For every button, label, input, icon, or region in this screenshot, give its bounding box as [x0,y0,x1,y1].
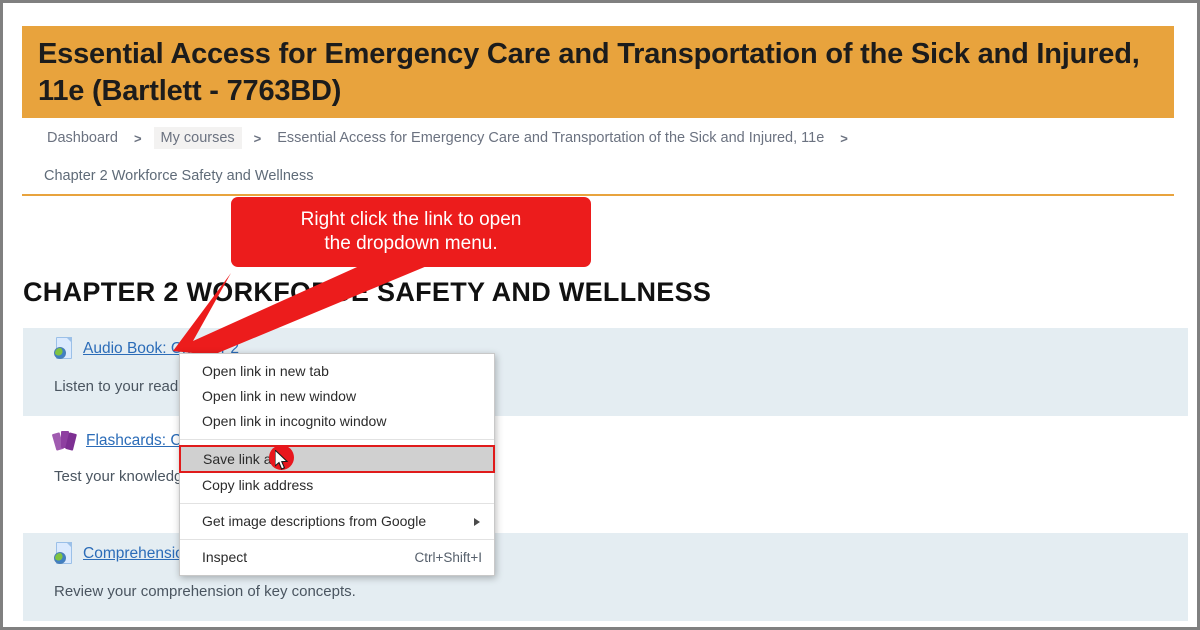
menu-item-open-link-new-window[interactable]: Open link in new window [180,384,494,409]
breadcrumb-item-my-courses[interactable]: My courses [154,127,242,149]
mouse-cursor-icon [275,450,291,472]
instruction-callout-text: Right click the link to open the dropdow… [301,208,522,256]
menu-item-label: Get image descriptions from Google [202,509,426,534]
header-divider [22,194,1174,196]
menu-item-label: Open link in new tab [202,359,329,384]
menu-item-label: Copy link address [202,473,313,498]
menu-separator [180,503,494,504]
breadcrumb-separator: > [242,131,274,146]
menu-item-inspect[interactable]: Inspect Ctrl+Shift+I [180,545,494,570]
breadcrumb-separator: > [122,131,154,146]
menu-separator [180,439,494,440]
callout-line-2: the dropdown menu. [324,233,497,254]
moodle-course-page: Essential Access for Emergency Care and … [3,3,1197,627]
screenshot-frame: Essential Access for Emergency Care and … [0,0,1200,630]
menu-item-label: Open link in incognito window [202,409,386,434]
callout-line-1: Right click the link to open [301,209,522,230]
menu-separator [180,539,494,540]
breadcrumb-item-course[interactable]: Essential Access for Emergency Care and … [273,128,828,148]
course-title: Essential Access for Emergency Care and … [38,36,1158,110]
menu-item-open-link-new-tab[interactable]: Open link in new tab [180,359,494,384]
menu-item-label: Inspect [202,545,247,570]
menu-item-save-link-as[interactable]: Save link as... [179,445,495,473]
browser-context-menu[interactable]: Open link in new tab Open link in new wi… [179,353,495,576]
menu-item-open-link-incognito[interactable]: Open link in incognito window [180,409,494,434]
chevron-right-icon [474,518,480,526]
breadcrumb-item-dashboard[interactable]: Dashboard [43,128,122,148]
course-header-banner: Essential Access for Emergency Care and … [22,26,1174,118]
breadcrumb-separator-trailing: > [828,131,860,146]
breadcrumb: Dashboard > My courses > Essential Acces… [43,127,860,149]
menu-item-copy-link-address[interactable]: Copy link address [180,473,494,498]
menu-item-get-image-descriptions[interactable]: Get image descriptions from Google [180,509,494,534]
menu-item-label: Open link in new window [202,384,356,409]
page-title: CHAPTER 2 WORKFORCE SAFETY AND WELLNESS [23,277,711,308]
flashcards-icon [54,431,76,450]
url-resource-icon [54,542,73,565]
instruction-callout: Right click the link to open the dropdow… [231,197,591,267]
breadcrumb-current-section: Chapter 2 Workforce Safety and Wellness [44,168,313,184]
url-resource-icon [54,337,73,360]
menu-item-shortcut: Ctrl+Shift+I [414,545,482,570]
